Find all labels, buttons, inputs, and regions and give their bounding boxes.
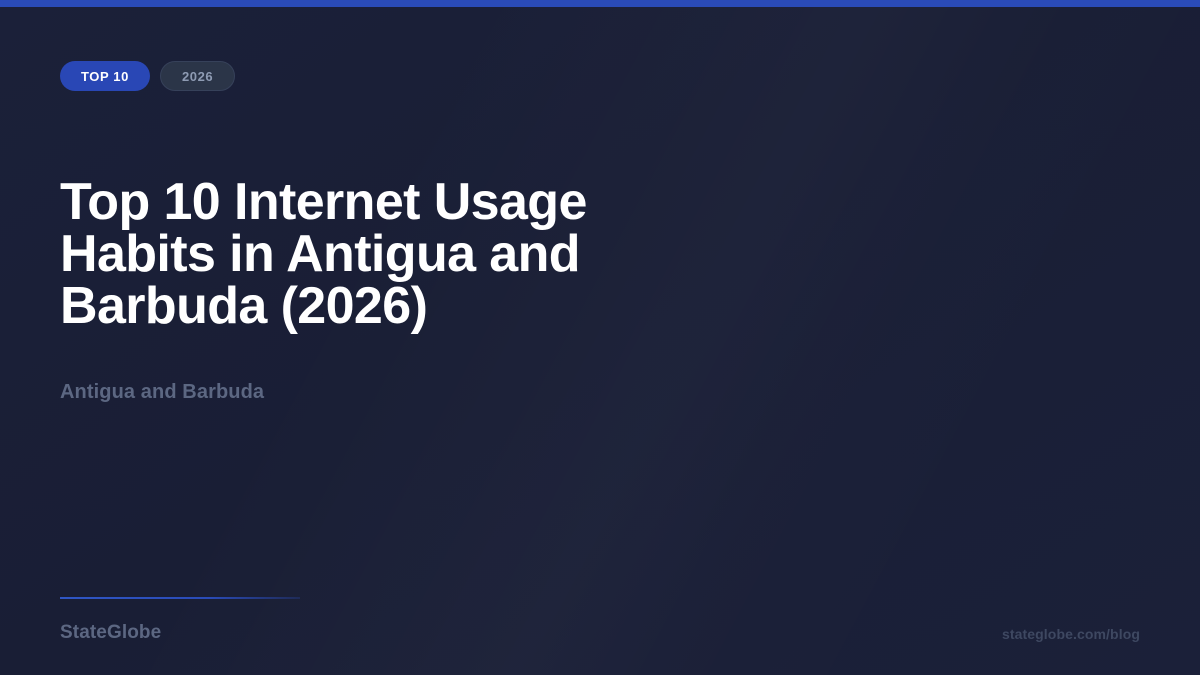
badge-row: TOP 10 2026 — [60, 61, 235, 91]
page-title: Top 10 Internet Usage Habits in Antigua … — [60, 176, 720, 332]
footer-url[interactable]: stateglobe.com/blog — [1002, 626, 1140, 642]
badge-year[interactable]: 2026 — [160, 61, 235, 91]
top-accent-bar — [0, 0, 1200, 7]
footer-divider — [60, 597, 300, 599]
badge-top-10[interactable]: TOP 10 — [60, 61, 150, 91]
title-slide: TOP 10 2026 Top 10 Internet Usage Habits… — [0, 0, 1200, 675]
footer-brand: StateGlobe — [60, 622, 161, 644]
page-subtitle: Antigua and Barbuda — [60, 381, 264, 404]
